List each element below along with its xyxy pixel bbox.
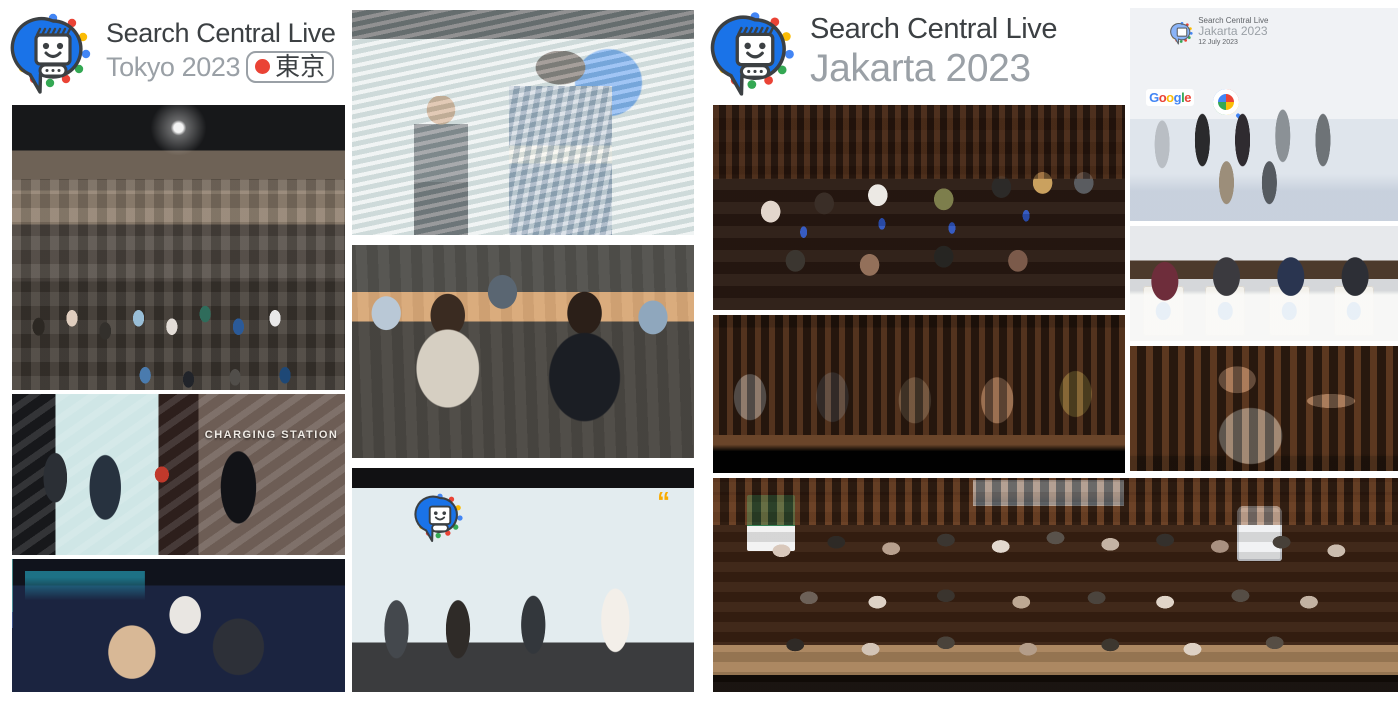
photo-content (1130, 346, 1398, 471)
googlebot-mascot-cutout (1237, 506, 1282, 562)
quote-mark-icon: “ (657, 488, 670, 514)
photo-jakarta-panel: Five panelists on black sofas on the Jak… (713, 315, 1125, 473)
event-title-block-tokyo: Search Central Live Tokyo 2023 東京 (106, 20, 336, 83)
photo-content (713, 315, 1125, 473)
photo-jakarta-question-mic: Attendee standing and asking a question … (1130, 346, 1398, 471)
backdrop-date: 12 July 2023 (1198, 38, 1268, 47)
event-title-line2: Tokyo 2023 (106, 54, 240, 81)
search-magnifier-prop-icon (1213, 89, 1239, 115)
photo-caption: Presenter in a blue yukata raising both … (352, 234, 353, 235)
photo-caption: Five panelists on black sofas on the Jak… (713, 472, 714, 473)
photo-tokyo-reception: Attendees smiling with drinks at the eve… (12, 559, 345, 692)
backdrop-branding: Search Central Live Jakarta 2023 12 July… (1170, 17, 1268, 47)
photo-caption: Two attendees in the audience making a h… (352, 457, 353, 458)
event-subtitle-row: Tokyo 2023 東京 (106, 51, 336, 83)
photo-content (12, 105, 345, 390)
event-title-line1: Search Central Live (810, 15, 1057, 44)
photo-content (1130, 226, 1398, 341)
googlebot-logo-icon (710, 2, 800, 101)
photo-caption: Attendee handing a red envelope to anoth… (12, 554, 13, 555)
tote-bag (1269, 286, 1309, 337)
photo-content (713, 105, 1125, 310)
event-header-jakarta: Search Central Live Jakarta 2023 (710, 2, 1057, 101)
photo-jakarta-audience: Jakarta audience waving and cheering in … (713, 105, 1125, 310)
event-subtitle-row: Jakarta 2023 (810, 48, 1057, 88)
photo-caption: Four attendees holding up white Search C… (1130, 340, 1131, 341)
collage-page: Search Central Live Tokyo 2023 東京 (0, 0, 1400, 704)
event-title-line1: Search Central Live (106, 20, 336, 47)
googlebot-screen-icon (414, 486, 466, 544)
backdrop-title-line1: Search Central Live (1198, 17, 1268, 25)
photo-caption: Full Jakarta attendee group photo in the… (713, 691, 714, 692)
photo-caption: Attendee standing and asking a question … (1130, 470, 1131, 471)
google-podium (747, 495, 795, 551)
google-prop-sign: Google (1146, 89, 1194, 106)
photo-tokyo-panel: “ Four panelists seated on stage, one sp… (352, 468, 694, 692)
city-badge-label: 東京 (275, 54, 325, 79)
photo-jakarta-group-photo: Full Jakarta attendee group photo in the… (713, 478, 1398, 692)
photo-content: CHARGING STATION (12, 394, 345, 555)
photo-caption: Four panelists seated on stage, one spea… (352, 691, 353, 692)
stage-screen (973, 480, 1124, 506)
charging-station-sign: CHARGING STATION (205, 429, 339, 441)
stage-person-yukata (509, 51, 612, 236)
photo-tokyo-heart-hands: Two attendees in the audience making a h… (352, 245, 694, 458)
event-header-tokyo: Search Central Live Tokyo 2023 東京 (10, 4, 336, 99)
tote-bag (1143, 286, 1183, 337)
event-title-line2: Jakarta 2023 (810, 49, 1031, 88)
city-badge-tokyo: 東京 (246, 51, 334, 83)
photo-caption: Attendees posing with Google and search … (1130, 220, 1131, 221)
photo-jakarta-photo-backdrop: Search Central Live Jakarta 2023 12 July… (1130, 8, 1398, 221)
backdrop-title-line2: Jakarta 2023 (1198, 25, 1268, 38)
photo-tokyo-audience-group: Large Tokyo audience group photo in audi… (12, 105, 345, 390)
googlebot-logo-icon (10, 4, 96, 99)
photo-content: Search Central Live Jakarta 2023 12 July… (1130, 8, 1398, 221)
photo-caption: Jakarta audience waving and cheering in … (713, 309, 714, 310)
photo-jakarta-tote-bags: Four attendees holding up white Search C… (1130, 226, 1398, 341)
photo-caption: Large Tokyo audience group photo in audi… (12, 389, 13, 390)
lanyard-accents (713, 105, 1125, 310)
googlebot-backdrop-icon (1170, 19, 1194, 45)
photo-content (713, 478, 1398, 692)
tote-bag (1205, 286, 1245, 337)
photo-content: “ (352, 468, 694, 692)
event-title-block-jakarta: Search Central Live Jakarta 2023 (810, 15, 1057, 88)
photo-tokyo-stage-yukata: Presenter in a blue yukata raising both … (352, 10, 694, 235)
japan-flag-dot-icon (255, 59, 270, 74)
photo-content (12, 559, 345, 692)
photo-tokyo-award-handoff: CHARGING STATION Attendee handing a red … (12, 394, 345, 555)
googlebot-slide-icon (557, 37, 660, 132)
stage-person-clapping (414, 96, 469, 236)
photo-content (352, 245, 694, 458)
photo-caption: Attendees smiling with drinks at the eve… (12, 691, 13, 692)
photo-content (352, 10, 694, 235)
tote-bag (1334, 286, 1374, 337)
